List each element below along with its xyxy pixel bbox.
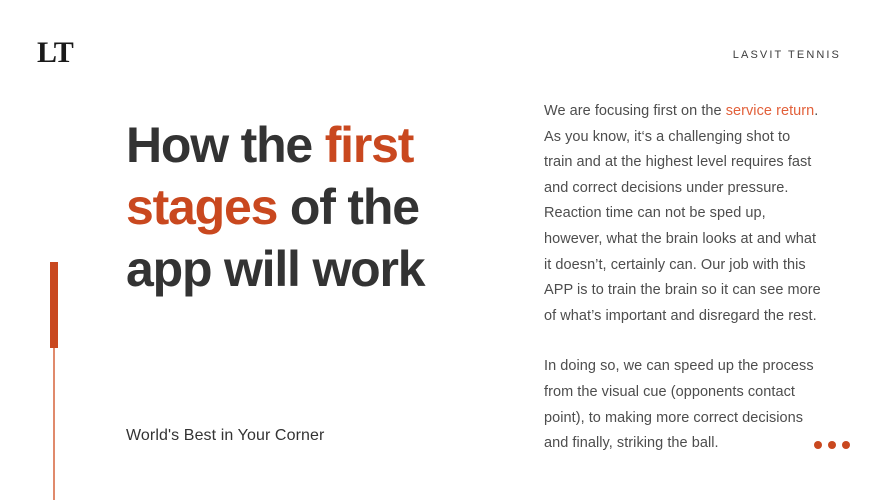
pagination-dot[interactable] — [842, 441, 850, 449]
pagination-dot[interactable] — [828, 441, 836, 449]
headline-line-3: app will work — [126, 238, 526, 300]
accent-bar-thick — [50, 262, 58, 348]
headline-accent-stages: stages — [126, 179, 277, 235]
headline-line-2: stages of the — [126, 176, 526, 238]
body-paragraph-2: In doing so, we can speed up the process… — [544, 354, 822, 456]
headline-accent-first: first — [325, 117, 413, 173]
accent-bar-thin — [53, 348, 55, 500]
page-title: How the first stages of the app will wor… — [126, 114, 526, 300]
headline-text-segment: of the — [277, 179, 419, 235]
tagline: World's Best in Your Corner — [126, 427, 324, 445]
headline-line-1: How the first — [126, 114, 526, 176]
pagination-dot[interactable] — [814, 441, 822, 449]
body-text-segment: We are focusing first on the — [544, 103, 726, 119]
body-accent-service-return: service return — [726, 103, 815, 119]
body-paragraph-1: We are focusing first on the service ret… — [544, 99, 822, 329]
brand-logo-lt: LT — [37, 38, 73, 68]
presentation-slide: LT LASVIT TENNIS How the first stages of… — [0, 0, 889, 500]
body-text-segment: . As you know, it‘s a challenging shot t… — [544, 103, 821, 324]
brand-name-label: LASVIT TENNIS — [733, 49, 841, 61]
pagination-dots[interactable] — [814, 441, 850, 449]
body-text-column: We are focusing first on the service ret… — [544, 99, 822, 457]
headline-text-segment: How the — [126, 117, 325, 173]
